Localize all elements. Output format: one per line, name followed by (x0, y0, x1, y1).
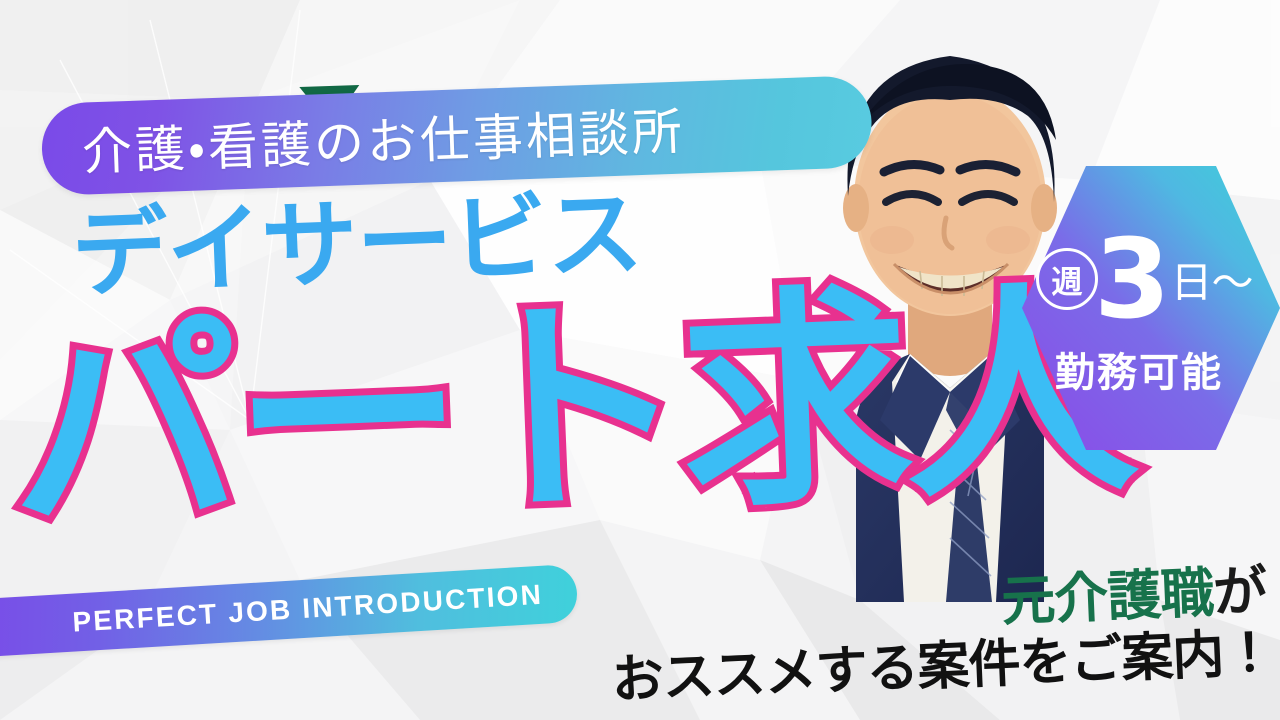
poster-canvas: 介護・看護のお仕事相談所 デイサービス パート求人 週 3 日〜 勤務可 (0, 0, 1280, 720)
badge-week-label: 週 (1036, 248, 1098, 310)
badge-days-unit: 日〜 (1171, 249, 1253, 310)
tagline-block: 元介護職が おススメする案件をご案内！ (640, 546, 1280, 696)
badge-days-number: 3 (1094, 234, 1169, 324)
main-headline: パート求人 (6, 275, 1134, 548)
badge-bottom-label: 勤務可能 (1022, 340, 1256, 398)
availability-badge: 週 3 日〜 勤務可能 (1022, 162, 1280, 454)
